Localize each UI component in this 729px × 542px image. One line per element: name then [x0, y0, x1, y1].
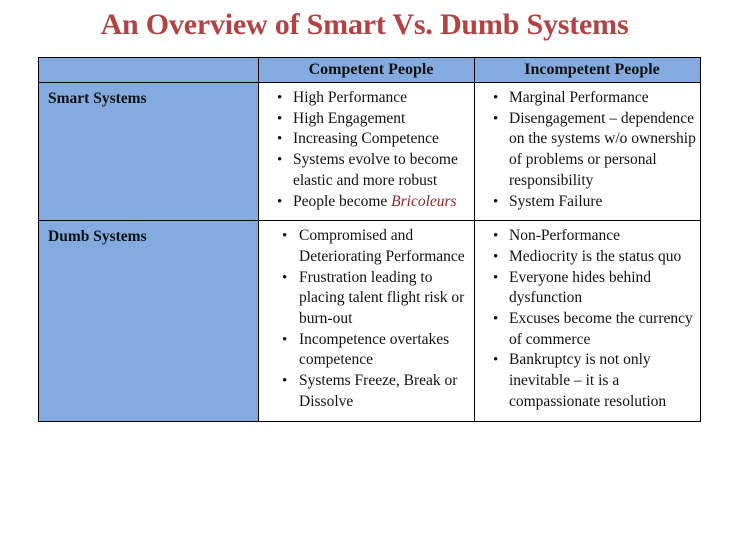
header-cell-incompetent-people: Incompetent People: [475, 58, 701, 83]
bullet-list-smart-competent: High Performance High Engagement Increas…: [259, 83, 474, 220]
table-header-row: Competent People Incompetent People: [39, 58, 701, 83]
header-label-competent-people: Competent People: [259, 58, 474, 82]
row-label-cell-dumb-systems: Dumb Systems: [39, 221, 259, 421]
cell-dumb-competent: Compromised and Deteriorating Performanc…: [259, 221, 475, 421]
list-item-emphasized: People become Bricoleurs: [259, 192, 470, 213]
slide-canvas: An Overview of Smart Vs. Dumb Systems Co…: [0, 0, 729, 542]
list-item: High Performance: [259, 88, 470, 109]
list-item: High Engagement: [259, 109, 470, 130]
list-item: Excuses become the currency of commerce: [475, 309, 696, 350]
list-item-text-prefix: People become: [293, 193, 391, 210]
page-title: An Overview of Smart Vs. Dumb Systems: [0, 6, 729, 44]
cell-smart-competent: High Performance High Engagement Increas…: [259, 83, 475, 221]
comparison-matrix: Competent People Incompetent People Smar…: [38, 57, 701, 422]
list-item: Compromised and Deteriorating Performanc…: [259, 226, 470, 267]
header-cell-competent-people: Competent People: [259, 58, 475, 83]
bullet-list-smart-incompetent: Marginal Performance Disengagement – dep…: [475, 83, 700, 220]
list-item: Incompetence overtakes competence: [259, 330, 470, 371]
row-label-dumb-systems: Dumb Systems: [39, 221, 258, 246]
list-item: Systems evolve to become elastic and mor…: [259, 150, 470, 191]
list-item: Marginal Performance: [475, 88, 696, 109]
row-label-smart-systems: Smart Systems: [39, 83, 258, 108]
table-row-dumb-systems: Dumb Systems Compromised and Deteriorati…: [39, 221, 701, 421]
list-item: Increasing Competence: [259, 129, 470, 150]
list-item: Frustration leading to placing talent fl…: [259, 268, 470, 330]
bullet-list-dumb-competent: Compromised and Deteriorating Performanc…: [259, 221, 474, 420]
list-item: Bankruptcy is not only inevitable – it i…: [475, 350, 696, 412]
cell-smart-incompetent: Marginal Performance Disengagement – dep…: [475, 83, 701, 221]
list-item: Disengagement – dependence on the system…: [475, 109, 696, 192]
list-item: Mediocrity is the status quo: [475, 247, 696, 268]
header-label-incompetent-people: Incompetent People: [475, 58, 700, 82]
list-item: Non-Performance: [475, 226, 696, 247]
list-item: Systems Freeze, Break or Dissolve: [259, 371, 470, 412]
list-item: Everyone hides behind dysfunction: [475, 268, 696, 309]
list-item: System Failure: [475, 192, 696, 213]
list-item-text-emphasis: Bricoleurs: [391, 193, 456, 210]
cell-dumb-incompetent: Non-Performance Mediocrity is the status…: [475, 221, 701, 421]
row-label-cell-smart-systems: Smart Systems: [39, 83, 259, 221]
table-row-smart-systems: Smart Systems High Performance High Enga…: [39, 83, 701, 221]
header-corner-cell: [39, 58, 259, 83]
bullet-list-dumb-incompetent: Non-Performance Mediocrity is the status…: [475, 221, 700, 420]
